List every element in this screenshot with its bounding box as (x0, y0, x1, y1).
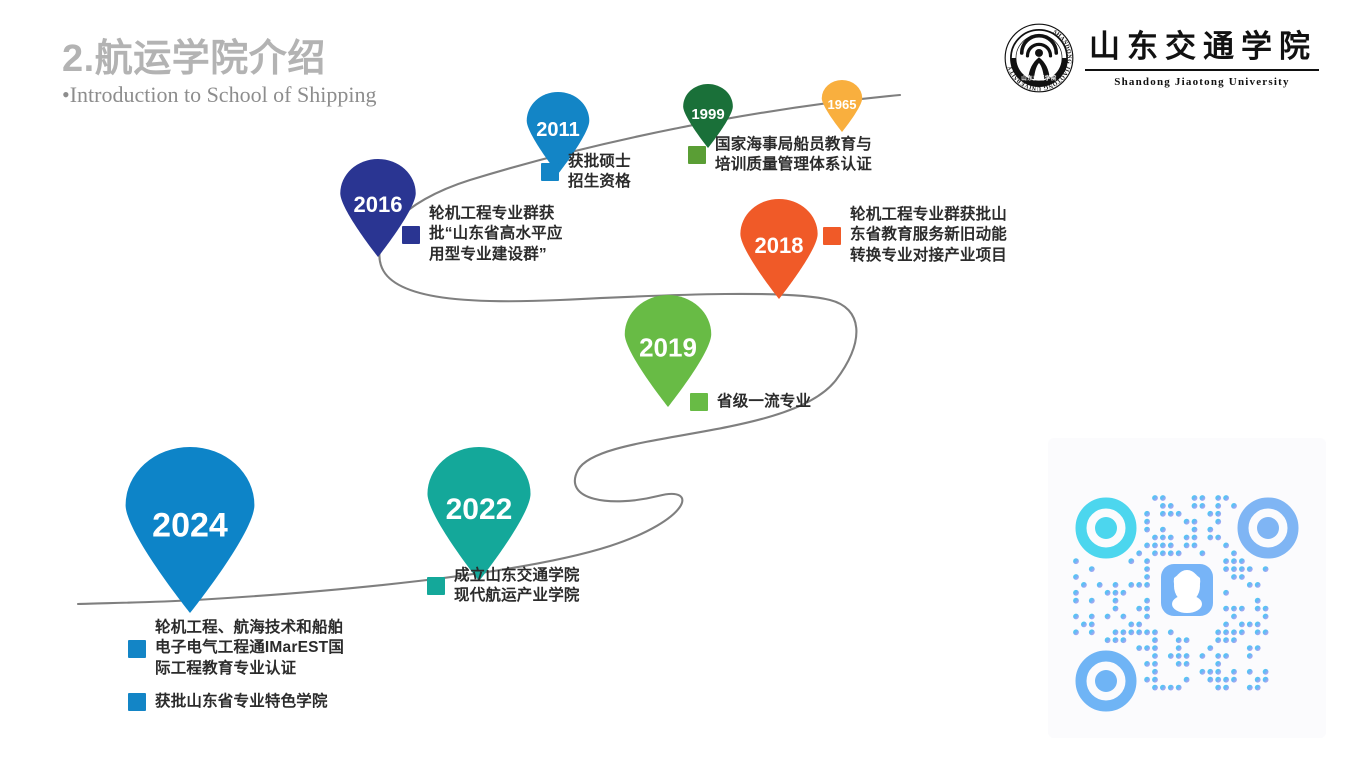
pin-year-label: 2022 (446, 493, 513, 527)
timeline-pin-2024[interactable]: 2024 (120, 447, 260, 613)
callout-2024-a: 轮机工程、航海技术和船舶 电子电气工程通IMarEST国 际工程教育专业认证 (128, 618, 344, 679)
pin-teardrop-shape: 2019 (621, 295, 715, 407)
pin-year-label: 1965 (828, 97, 857, 112)
pin-year-label: 2019 (639, 332, 697, 363)
pin-year-label: 2011 (536, 119, 579, 142)
callout-swatch-icon (541, 163, 559, 181)
callout-label: 成立山东交通学院 现代航运产业学院 (454, 566, 580, 607)
slide-root: 2.航运学院介绍 •Introduction to School of Ship… (0, 0, 1350, 759)
timeline-pin-1965[interactable]: 1965 (820, 80, 864, 132)
timeline-pin-2018[interactable]: 2018 (737, 199, 821, 299)
pin-teardrop-shape: 2018 (737, 199, 821, 299)
callout-swatch-icon (128, 693, 146, 711)
callout-label: 获批硕士 招生资格 (568, 152, 631, 193)
callout-swatch-icon (427, 577, 445, 595)
callout-2011: 获批硕士 招生资格 (541, 152, 631, 193)
pin-year-label: 2018 (755, 233, 804, 259)
callout-swatch-icon (823, 227, 841, 245)
callout-label: 获批山东省专业特色学院 (155, 692, 328, 712)
callout-1999: 国家海事局船员教育与 培训质量管理体系认证 (688, 135, 872, 176)
timeline-pin-2019[interactable]: 2019 (621, 295, 715, 407)
callout-swatch-icon (402, 226, 420, 244)
pin-year-label: 2024 (152, 506, 228, 545)
pin-teardrop-shape: 1965 (820, 80, 864, 132)
callout-2022: 成立山东交通学院 现代航运产业学院 (427, 566, 580, 607)
callout-2018: 轮机工程专业群获批山 东省教育服务新旧动能 转换专业对接产业项目 (823, 205, 1007, 266)
callout-label: 国家海事局船员教育与 培训质量管理体系认证 (715, 135, 872, 176)
callout-label: 轮机工程、航海技术和船舶 电子电气工程通IMarEST国 际工程教育专业认证 (155, 618, 344, 679)
qr-code-panel[interactable] (1048, 438, 1326, 738)
qq-qr-code[interactable] (1048, 438, 1326, 738)
qq-penguin-icon (1161, 564, 1213, 616)
callout-swatch-icon (690, 393, 708, 411)
callout-label: 轮机工程专业群获 批“山东省高水平应 用型专业建设群” (429, 204, 563, 265)
pin-teardrop-shape: 2024 (120, 447, 260, 613)
callout-swatch-icon (128, 640, 146, 658)
callout-2016: 轮机工程专业群获 批“山东省高水平应 用型专业建设群” (402, 204, 563, 265)
callout-2019: 省级一流专业 (690, 392, 811, 412)
pin-teardrop-shape: 2022 (423, 447, 535, 581)
pin-year-label: 2016 (354, 192, 403, 218)
pin-year-label: 1999 (691, 105, 724, 122)
callout-label: 省级一流专业 (717, 392, 811, 412)
timeline-pin-2022[interactable]: 2022 (423, 447, 535, 581)
callout-2024-b: 获批山东省专业特色学院 (128, 692, 328, 712)
callout-swatch-icon (688, 146, 706, 164)
callout-label: 轮机工程专业群获批山 东省教育服务新旧动能 转换专业对接产业项目 (850, 205, 1007, 266)
